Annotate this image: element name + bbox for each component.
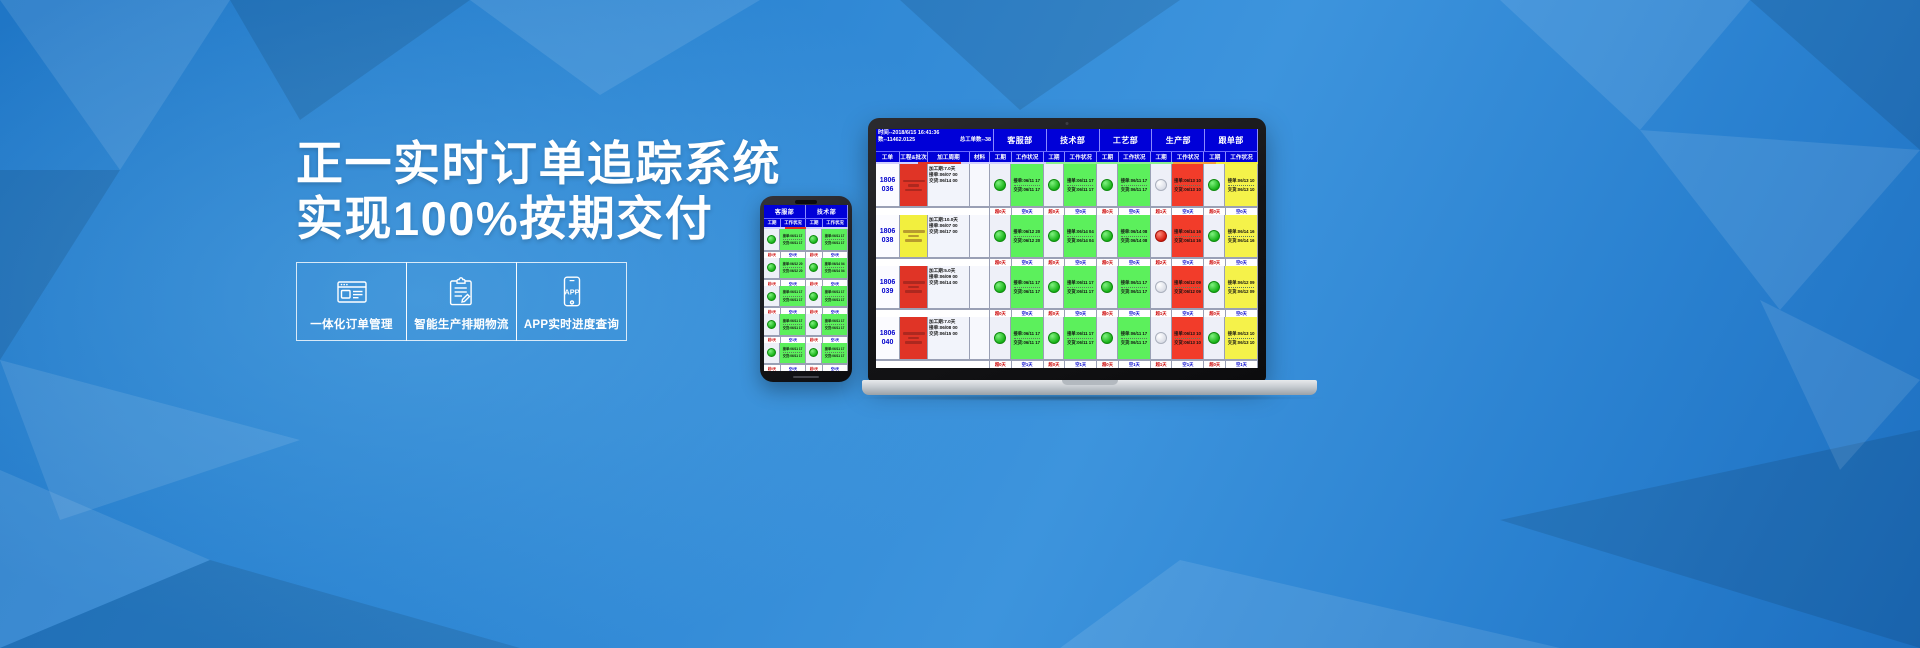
- status-indicator-dot[interactable]: [1155, 281, 1167, 293]
- duration-status-cell[interactable]: [764, 286, 780, 306]
- column-header[interactable]: 工作状况: [781, 219, 806, 227]
- column-header[interactable]: 加工周期: [928, 152, 970, 162]
- status-delivery: 交货:06/11 17: [823, 326, 846, 330]
- feature-item-order-management[interactable]: 一体化订单管理: [296, 262, 407, 341]
- work-status-cell[interactable]: 接单:06/11 17交货:06/11 17: [822, 343, 848, 363]
- laptop-shadow: [856, 395, 1323, 401]
- column-header[interactable]: 材料: [970, 152, 990, 162]
- status-indicator-dot[interactable]: [767, 292, 776, 301]
- status-delivery: 交货:06/11 17: [781, 326, 804, 330]
- status-received: 接单:06/13 10: [1226, 331, 1256, 337]
- material-cell[interactable]: [970, 317, 990, 359]
- status-divider: [825, 296, 844, 297]
- project-batch-cell[interactable]: [900, 164, 928, 206]
- duration-status-cell[interactable]: [1204, 164, 1225, 206]
- status-indicator-dot[interactable]: [809, 292, 818, 301]
- cycle-delivery: 交货:06/17 00: [929, 229, 968, 235]
- column-header-row: 工单工程&批次加工周期材料工期工作状况工期工作状况工期工作状况工期工作状况工期工…: [876, 151, 1258, 162]
- meta-count: 数--11462.0125: [878, 137, 915, 144]
- duration-status-cell[interactable]: [1204, 266, 1225, 308]
- phone-body: 客服部技术部工期工作状况工期工作状况接单:06/11 17交货:06/11 17…: [760, 196, 852, 382]
- status-indicator-dot[interactable]: [767, 263, 776, 272]
- work-status-cell[interactable]: 接单:06/14 04交货:06/14 04: [822, 258, 848, 278]
- status-divider: [1014, 338, 1040, 339]
- status-divider: [1121, 185, 1147, 186]
- work-status-cell[interactable]: 接单:06/12 09交货:06/12 09: [1225, 266, 1258, 308]
- status-indicator-dot[interactable]: [1048, 179, 1060, 191]
- summary-idle: 空1天: [781, 336, 806, 343]
- summary-overdue: 超1天: [1151, 309, 1173, 317]
- work-status-cell[interactable]: 接单:06/12 20交货:06/12 20: [780, 258, 806, 278]
- status-divider: [783, 296, 802, 297]
- status-divider: [1014, 236, 1040, 237]
- work-status-cell[interactable]: 接单:06/11 17交货:06/11 17: [780, 286, 806, 306]
- promo-banner: 正一实时订单追踪系统 实现100%按期交付 一体化订单管理: [0, 0, 1920, 648]
- summary-overdue: 超0天: [764, 279, 781, 286]
- summary-overdue: 超0天: [806, 364, 823, 371]
- duration-status-cell[interactable]: [764, 258, 780, 278]
- status-divider: [825, 324, 844, 325]
- summary-spacer: [876, 207, 990, 215]
- status-divider: [1121, 338, 1147, 339]
- column-header[interactable]: 工作状况: [823, 219, 848, 227]
- duration-status-cell[interactable]: [806, 286, 822, 306]
- duration-status-cell[interactable]: [990, 266, 1011, 308]
- status-indicator-dot[interactable]: [1101, 179, 1113, 191]
- summary-idle: 空0天: [781, 364, 806, 371]
- status-divider: [1014, 287, 1040, 288]
- summary-overdue: 超0天: [1204, 360, 1226, 368]
- status-divider: [1228, 185, 1254, 186]
- department-header[interactable]: 客服部: [764, 205, 806, 218]
- duration-status-cell[interactable]: [1097, 317, 1118, 359]
- table-row[interactable]: 接单:06/12 20交货:06/12 20接单:06/14 04交货:06/1…: [764, 258, 848, 279]
- status-divider: [1067, 236, 1093, 237]
- work-status-cell[interactable]: 接单:06/11 17交货:06/11 17: [1011, 266, 1044, 308]
- summary-overdue: 超0天: [1097, 360, 1119, 368]
- summary-overdue: 超0天: [806, 279, 823, 286]
- duration-status-cell[interactable]: [764, 314, 780, 334]
- summary-overdue: 超0天: [1204, 309, 1226, 317]
- feature-item-production-scheduling[interactable]: 智能生产排期物流: [406, 262, 517, 341]
- table-row[interactable]: 接单:06/11 17交货:06/11 17接单:06/11 17交货:06/1…: [764, 314, 848, 335]
- status-indicator-dot[interactable]: [1155, 230, 1167, 242]
- status-divider: [1228, 287, 1254, 288]
- project-batch-cell[interactable]: [900, 266, 928, 308]
- status-indicator-dot[interactable]: [1208, 179, 1220, 191]
- work-status-cell[interactable]: 接单:06/11 17交货:06/11 17: [780, 314, 806, 334]
- status-delivery: 交货:06/12 09: [1226, 289, 1256, 295]
- status-indicator-dot[interactable]: [1101, 281, 1113, 293]
- summary-overdue: 超0天: [1204, 207, 1226, 215]
- work-status-cell[interactable]: 接单:06/11 17交货:06/11 17: [780, 229, 806, 249]
- summary-idle: 空0天: [1119, 258, 1151, 266]
- processing-cycle-cell[interactable]: 加工期:7.0天接单:06/08 00交货:06/15 00: [928, 317, 970, 359]
- material-cell[interactable]: [970, 164, 990, 206]
- status-indicator-dot[interactable]: [994, 230, 1006, 242]
- order-number-cell[interactable]: 1806039: [876, 266, 900, 308]
- status-delivery: 交货:06/11 17: [1065, 289, 1095, 295]
- summary-spacer: [876, 360, 990, 368]
- status-divider: [1067, 338, 1093, 339]
- work-status-cell[interactable]: 接单:06/13 10交货:06/13 10: [1225, 164, 1258, 206]
- cycle-delivery: 交货:06/14 00: [929, 280, 968, 286]
- order-tracking-dashboard: 客服部技术部工期工作状况工期工作状况接单:06/11 17交货:06/11 17…: [764, 205, 848, 371]
- status-indicator-dot[interactable]: [994, 179, 1006, 191]
- work-status-cell[interactable]: 接单:06/14 16交货:06/14 16: [1225, 215, 1258, 257]
- duration-status-cell[interactable]: [764, 343, 780, 363]
- status-delivery: 交货:06/14 16: [1226, 238, 1256, 244]
- status-divider: [1014, 185, 1040, 186]
- row-summary-line: 超0天空0天超0天空0天: [764, 279, 848, 286]
- work-status-cell[interactable]: 接单:06/14 08交货:06/14 08: [1118, 215, 1151, 257]
- summary-idle: 空0天: [1226, 207, 1258, 215]
- processing-cycle-cell[interactable]: 加工期:7.0天接单:06/07 00交货:06/14 00: [928, 164, 970, 206]
- work-status-cell[interactable]: 接单:06/11 17交货:06/11 17: [1011, 317, 1044, 359]
- status-divider: [1175, 185, 1201, 186]
- order-number-cell[interactable]: 1806040: [876, 317, 900, 359]
- duration-status-cell[interactable]: [1151, 266, 1172, 308]
- material-cell[interactable]: [970, 215, 990, 257]
- processing-cycle-cell[interactable]: 加工期:10.0天接单:06/07 00交货:06/17 00: [928, 215, 970, 257]
- status-indicator-dot[interactable]: [1208, 230, 1220, 242]
- status-divider: [1067, 287, 1093, 288]
- status-delivery: 交货:06/14 04: [823, 269, 846, 273]
- project-text-line: [908, 286, 919, 289]
- status-delivery: 交货:06/13 10: [1226, 340, 1256, 346]
- duration-status-cell[interactable]: [990, 317, 1011, 359]
- summary-idle: 空1天: [1172, 360, 1204, 368]
- status-indicator-dot[interactable]: [1155, 179, 1167, 191]
- summary-overdue: 超0天: [990, 360, 1012, 368]
- laptop-base: [862, 380, 1317, 395]
- department-header[interactable]: 工艺部: [1100, 129, 1153, 151]
- row-summary-line: 超0天空0天超0天空0天: [764, 364, 848, 371]
- project-batch-cell[interactable]: [900, 215, 928, 257]
- table-row[interactable]: 接单:06/11 17交货:06/11 17接单:06/11 17交货:06/1…: [764, 229, 848, 250]
- column-header[interactable]: 工期: [990, 152, 1012, 162]
- duration-status-cell[interactable]: [1097, 266, 1118, 308]
- status-received: 接单:06/12 09: [1226, 280, 1256, 286]
- status-indicator-dot[interactable]: [1155, 332, 1167, 344]
- column-header[interactable]: 工单: [876, 152, 900, 162]
- status-delivery: 交货:06/13 10: [1173, 187, 1203, 193]
- status-indicator-dot[interactable]: [767, 235, 776, 244]
- work-status-cell[interactable]: 接单:06/13 10交货:06/13 10: [1172, 317, 1205, 359]
- work-status-cell[interactable]: 接单:06/11 17交货:06/11 17: [822, 286, 848, 306]
- status-delivery: 交货:06/12 20: [1012, 238, 1042, 244]
- column-header[interactable]: 工期: [1204, 152, 1226, 162]
- status-indicator-dot[interactable]: [1101, 332, 1113, 344]
- work-status-cell[interactable]: 接单:06/12 20交货:06/12 20: [1011, 215, 1044, 257]
- project-text-line: [903, 230, 925, 233]
- department-header[interactable]: 客服部: [994, 129, 1047, 151]
- column-header[interactable]: 工程&批次: [900, 152, 928, 162]
- work-status-cell[interactable]: 接单:06/11 17交货:06/11 17: [1118, 164, 1151, 206]
- order-number-bottom: 039: [882, 287, 894, 296]
- mobile-app-icon: APP: [561, 275, 583, 309]
- order-tracking-dashboard: 时间--2018/6/15 16:41:36数--11462.0125总工单数-…: [876, 129, 1258, 368]
- table-row[interactable]: 1806040加工期:7.0天接单:06/08 00交货:06/15 00接单:…: [876, 317, 1258, 360]
- work-status-cell[interactable]: 接单:06/11 17交货:06/11 17: [1118, 266, 1151, 308]
- duration-status-cell[interactable]: [1204, 317, 1225, 359]
- dashboard-header: 客服部技术部: [764, 205, 848, 218]
- column-header[interactable]: 工期: [1044, 152, 1066, 162]
- status-received: 接单:06/11 17: [781, 290, 804, 294]
- project-text-line: [903, 180, 925, 183]
- status-delivery: 交货:06/11 17: [1065, 187, 1095, 193]
- status-indicator-dot[interactable]: [809, 235, 818, 244]
- summary-idle: 空1天: [1119, 360, 1151, 368]
- feature-list: 一体化订单管理 智能生产排期物流: [296, 262, 626, 341]
- column-header[interactable]: 工作状况: [1119, 152, 1151, 162]
- order-number-bottom: 040: [882, 338, 894, 347]
- duration-status-cell[interactable]: [806, 343, 822, 363]
- row-summary-line: 超0天空0天超0天空0天超0天空0天超1天空0天超0天空0天: [876, 309, 1258, 317]
- work-status-cell[interactable]: 接单:06/14 16交货:06/14 16: [1172, 215, 1205, 257]
- department-header[interactable]: 生产部: [1152, 129, 1205, 151]
- status-received: 接单:06/13 10: [1173, 178, 1203, 184]
- summary-overdue: 超0天: [1097, 258, 1119, 266]
- column-header[interactable]: 工作状况: [1226, 152, 1258, 162]
- duration-status-cell[interactable]: [1151, 164, 1172, 206]
- status-divider: [1228, 236, 1254, 237]
- column-header[interactable]: 工作状况: [1172, 152, 1204, 162]
- summary-idle: 空1天: [1065, 360, 1097, 368]
- duration-status-cell[interactable]: [1204, 215, 1225, 257]
- order-number-top: 1806: [880, 227, 896, 236]
- summary-idle: 空0天: [823, 364, 848, 371]
- status-indicator-dot[interactable]: [1208, 332, 1220, 344]
- status-divider: [783, 324, 802, 325]
- order-number-bottom: 038: [882, 236, 894, 245]
- duration-status-cell[interactable]: [806, 258, 822, 278]
- summary-idle: 空0天: [1065, 207, 1097, 215]
- summary-idle: 空1天: [1012, 360, 1044, 368]
- status-received: 接单:06/11 17: [781, 347, 804, 351]
- table-row[interactable]: 1806039加工期:5.0天接单:06/09 00交货:06/14 00接单:…: [876, 266, 1258, 309]
- work-status-cell[interactable]: 接单:06/12 09交货:06/12 09: [1172, 266, 1205, 308]
- phone-screen[interactable]: 客服部技术部工期工作状况工期工作状况接单:06/11 17交货:06/11 17…: [764, 205, 848, 371]
- summary-idle: 空0天: [1065, 309, 1097, 317]
- department-header[interactable]: 技术部: [806, 205, 848, 218]
- summary-overdue: 超0天: [990, 207, 1012, 215]
- status-delivery: 交货:06/11 17: [781, 241, 804, 245]
- duration-status-cell[interactable]: [990, 164, 1011, 206]
- status-delivery: 交货:06/14 16: [1173, 238, 1203, 244]
- summary-overdue: 超0天: [764, 307, 781, 314]
- status-received: 接单:06/14 16: [1173, 229, 1203, 235]
- table-row[interactable]: 1806038加工期:10.0天接单:06/07 00交货:06/17 00接单…: [876, 215, 1258, 258]
- project-text-line: [908, 235, 919, 238]
- summary-overdue: 超0天: [1044, 258, 1066, 266]
- status-delivery: 交货:06/11 17: [823, 354, 846, 358]
- project-text-line: [908, 184, 919, 187]
- status-received: 接单:06/11 17: [1012, 280, 1042, 286]
- status-received: 接单:06/13 10: [1226, 178, 1256, 184]
- work-status-cell[interactable]: 接单:06/11 17交货:06/11 17: [1118, 317, 1151, 359]
- row-summary-line: 超0天空1天超0天空1天: [764, 336, 848, 343]
- column-header[interactable]: 工期: [1097, 152, 1119, 162]
- table-row[interactable]: 接单:06/11 17交货:06/11 17接单:06/11 17交货:06/1…: [764, 286, 848, 307]
- feature-item-app-progress-query[interactable]: APP APP实时进度查询: [516, 262, 627, 341]
- duration-status-cell[interactable]: [1044, 164, 1065, 206]
- work-status-cell[interactable]: 接单:06/13 10交货:06/13 10: [1172, 164, 1205, 206]
- summary-idle: 空0天: [1172, 309, 1204, 317]
- table-row[interactable]: 接单:06/11 17交货:06/11 17接单:06/11 17交货:06/1…: [764, 343, 848, 364]
- status-received: 接单:06/11 17: [823, 234, 846, 238]
- status-received: 接单:06/11 17: [1065, 280, 1095, 286]
- status-indicator-dot[interactable]: [809, 263, 818, 272]
- status-received: 接单:06/14 08: [1119, 229, 1149, 235]
- status-delivery: 交货:06/11 17: [781, 298, 804, 302]
- duration-status-cell[interactable]: [764, 229, 780, 249]
- status-delivery: 交货:06/11 17: [1012, 289, 1042, 295]
- duration-status-cell[interactable]: [806, 229, 822, 249]
- clipboard-schedule-icon: [449, 275, 475, 309]
- status-received: 接单:06/11 17: [1119, 280, 1149, 286]
- column-header[interactable]: 工期: [806, 219, 823, 227]
- status-indicator-dot[interactable]: [1048, 281, 1060, 293]
- department-header[interactable]: 技术部: [1047, 129, 1100, 151]
- order-number-top: 1806: [880, 278, 896, 287]
- status-delivery: 交货:06/11 17: [1012, 340, 1042, 346]
- summary-overdue: 超0天: [1204, 258, 1226, 266]
- status-indicator-dot[interactable]: [1048, 332, 1060, 344]
- department-header[interactable]: 跟单部: [1205, 129, 1258, 151]
- status-indicator-dot[interactable]: [809, 320, 818, 329]
- project-text-line: [903, 281, 925, 284]
- summary-idle: 空0天: [1119, 309, 1151, 317]
- project-batch-cell[interactable]: [900, 317, 928, 359]
- status-indicator-dot[interactable]: [809, 348, 818, 357]
- feature-label: APP实时进度查询: [524, 316, 619, 332]
- summary-idle: 空0天: [1119, 207, 1151, 215]
- status-delivery: 交货:06/11 17: [1119, 340, 1149, 346]
- processing-cycle-cell[interactable]: 加工期:5.0天接单:06/09 00交货:06/14 00: [928, 266, 970, 308]
- status-divider: [1067, 185, 1093, 186]
- duration-status-cell[interactable]: [1044, 266, 1065, 308]
- duration-status-cell[interactable]: [806, 314, 822, 334]
- status-received: 接单:06/14 16: [1226, 229, 1256, 235]
- status-delivery: 交货:06/12 20: [781, 269, 804, 273]
- work-status-cell[interactable]: 接单:06/11 17交货:06/11 17: [822, 314, 848, 334]
- status-indicator-dot[interactable]: [994, 281, 1006, 293]
- status-received: 接单:06/14 04: [1065, 229, 1095, 235]
- status-received: 接单:06/11 17: [781, 234, 804, 238]
- status-received: 接单:06/13 10: [1173, 331, 1203, 337]
- status-delivery: 交货:06/14 08: [1119, 238, 1149, 244]
- order-number-top: 1806: [880, 329, 896, 338]
- summary-overdue: 超0天: [1044, 309, 1066, 317]
- status-delivery: 交货:06/11 17: [1119, 289, 1149, 295]
- project-text-line: [905, 341, 922, 344]
- status-delivery: 交货:06/11 17: [1012, 187, 1042, 193]
- summary-overdue: 超0天: [990, 309, 1012, 317]
- status-divider: [825, 239, 844, 240]
- row-summary-line: 超0天空0天超0天空0天超0天空0天超1天空0天超0天空0天: [876, 207, 1258, 215]
- order-number-cell[interactable]: 1806038: [876, 215, 900, 257]
- summary-idle: 空0天: [1172, 207, 1204, 215]
- summary-idle: 空1天: [823, 336, 848, 343]
- summary-overdue: 超0天: [990, 258, 1012, 266]
- row-summary-line: 超0天空0天超0天空0天: [764, 307, 848, 314]
- status-delivery: 交货:06/13 10: [1173, 340, 1203, 346]
- row-summary-line: 超0天空0天超0天空0天: [764, 251, 848, 258]
- order-number-cell[interactable]: 1806036: [876, 164, 900, 206]
- status-received: 接单:06/11 17: [1119, 331, 1149, 337]
- work-status-cell[interactable]: 接单:06/11 17交货:06/11 17: [1064, 266, 1097, 308]
- duration-status-cell[interactable]: [1044, 317, 1065, 359]
- material-cell[interactable]: [970, 266, 990, 308]
- laptop-lid: 时间--2018/6/15 16:41:36数--11462.0125总工单数-…: [868, 118, 1266, 381]
- cycle-delivery: 交货:06/14 00: [929, 178, 968, 184]
- column-header[interactable]: 工期: [1151, 152, 1173, 162]
- status-indicator-dot[interactable]: [767, 320, 776, 329]
- status-indicator-dot[interactable]: [1208, 281, 1220, 293]
- laptop-device: 时间--2018/6/15 16:41:36数--11462.0125总工单数-…: [862, 118, 1332, 418]
- duration-status-cell[interactable]: [1044, 215, 1065, 257]
- summary-idle: 空0天: [823, 307, 848, 314]
- summary-idle: 空0天: [1226, 258, 1258, 266]
- summary-overdue: 超0天: [806, 336, 823, 343]
- status-received: 接单:06/11 17: [1065, 331, 1095, 337]
- work-status-cell[interactable]: 接单:06/11 17交货:06/11 17: [780, 343, 806, 363]
- status-delivery: 交货:06/11 17: [1065, 340, 1095, 346]
- status-delivery: 交货:06/13 10: [1226, 187, 1256, 193]
- status-indicator-dot[interactable]: [767, 348, 776, 357]
- work-status-cell[interactable]: 接单:06/11 17交货:06/11 17: [1064, 164, 1097, 206]
- summary-overdue: 超0天: [1044, 207, 1066, 215]
- duration-status-cell[interactable]: [1097, 215, 1118, 257]
- summary-overdue: 超2天: [1151, 258, 1173, 266]
- work-status-cell[interactable]: 接单:06/11 17交货:06/11 17: [1064, 317, 1097, 359]
- project-text-line: [908, 337, 919, 340]
- work-status-cell[interactable]: 接单:06/11 17交货:06/11 17: [1011, 164, 1044, 206]
- summary-overdue: 超1天: [1151, 207, 1173, 215]
- work-status-cell[interactable]: 接单:06/14 04交货:06/14 04: [1064, 215, 1097, 257]
- status-indicator-dot[interactable]: [1101, 230, 1113, 242]
- column-header[interactable]: 工作状况: [1012, 152, 1044, 162]
- status-indicator-dot[interactable]: [994, 332, 1006, 344]
- column-header[interactable]: 工期: [764, 219, 781, 227]
- duration-status-cell[interactable]: [1097, 164, 1118, 206]
- order-card-icon: [337, 275, 367, 309]
- duration-status-cell[interactable]: [990, 215, 1011, 257]
- summary-spacer: [876, 309, 990, 317]
- row-summary-line: 超0天空0天超0天空0天超0天空0天超2天空0天超0天空0天: [876, 258, 1258, 266]
- feature-label: 智能生产排期物流: [414, 316, 508, 332]
- work-status-cell[interactable]: 接单:06/11 17交货:06/11 17: [822, 229, 848, 249]
- work-status-cell[interactable]: 接单:06/13 10交货:06/13 10: [1225, 317, 1258, 359]
- status-delivery: 交货:06/11 17: [781, 354, 804, 358]
- summary-idle: 空0天: [1012, 207, 1044, 215]
- status-divider: [1175, 236, 1201, 237]
- status-delivery: 交货:06/11 17: [1119, 187, 1149, 193]
- column-header[interactable]: 工作状况: [1065, 152, 1097, 162]
- duration-status-cell[interactable]: [1151, 317, 1172, 359]
- status-indicator-dot[interactable]: [1048, 230, 1060, 242]
- summary-idle: 空0天: [1012, 309, 1044, 317]
- laptop-screen[interactable]: 时间--2018/6/15 16:41:36数--11462.0125总工单数-…: [876, 129, 1258, 368]
- status-divider: [1121, 236, 1147, 237]
- dashboard-rows: 1806036加工期:7.0天接单:06/07 00交货:06/14 00接单:…: [876, 164, 1258, 368]
- table-row[interactable]: 1806036加工期:7.0天接单:06/07 00交货:06/14 00接单:…: [876, 164, 1258, 207]
- duration-status-cell[interactable]: [1151, 215, 1172, 257]
- summary-idle: 空0天: [823, 279, 848, 286]
- status-received: 接单:06/12 20: [781, 262, 804, 266]
- feature-label: 一体化订单管理: [310, 316, 393, 332]
